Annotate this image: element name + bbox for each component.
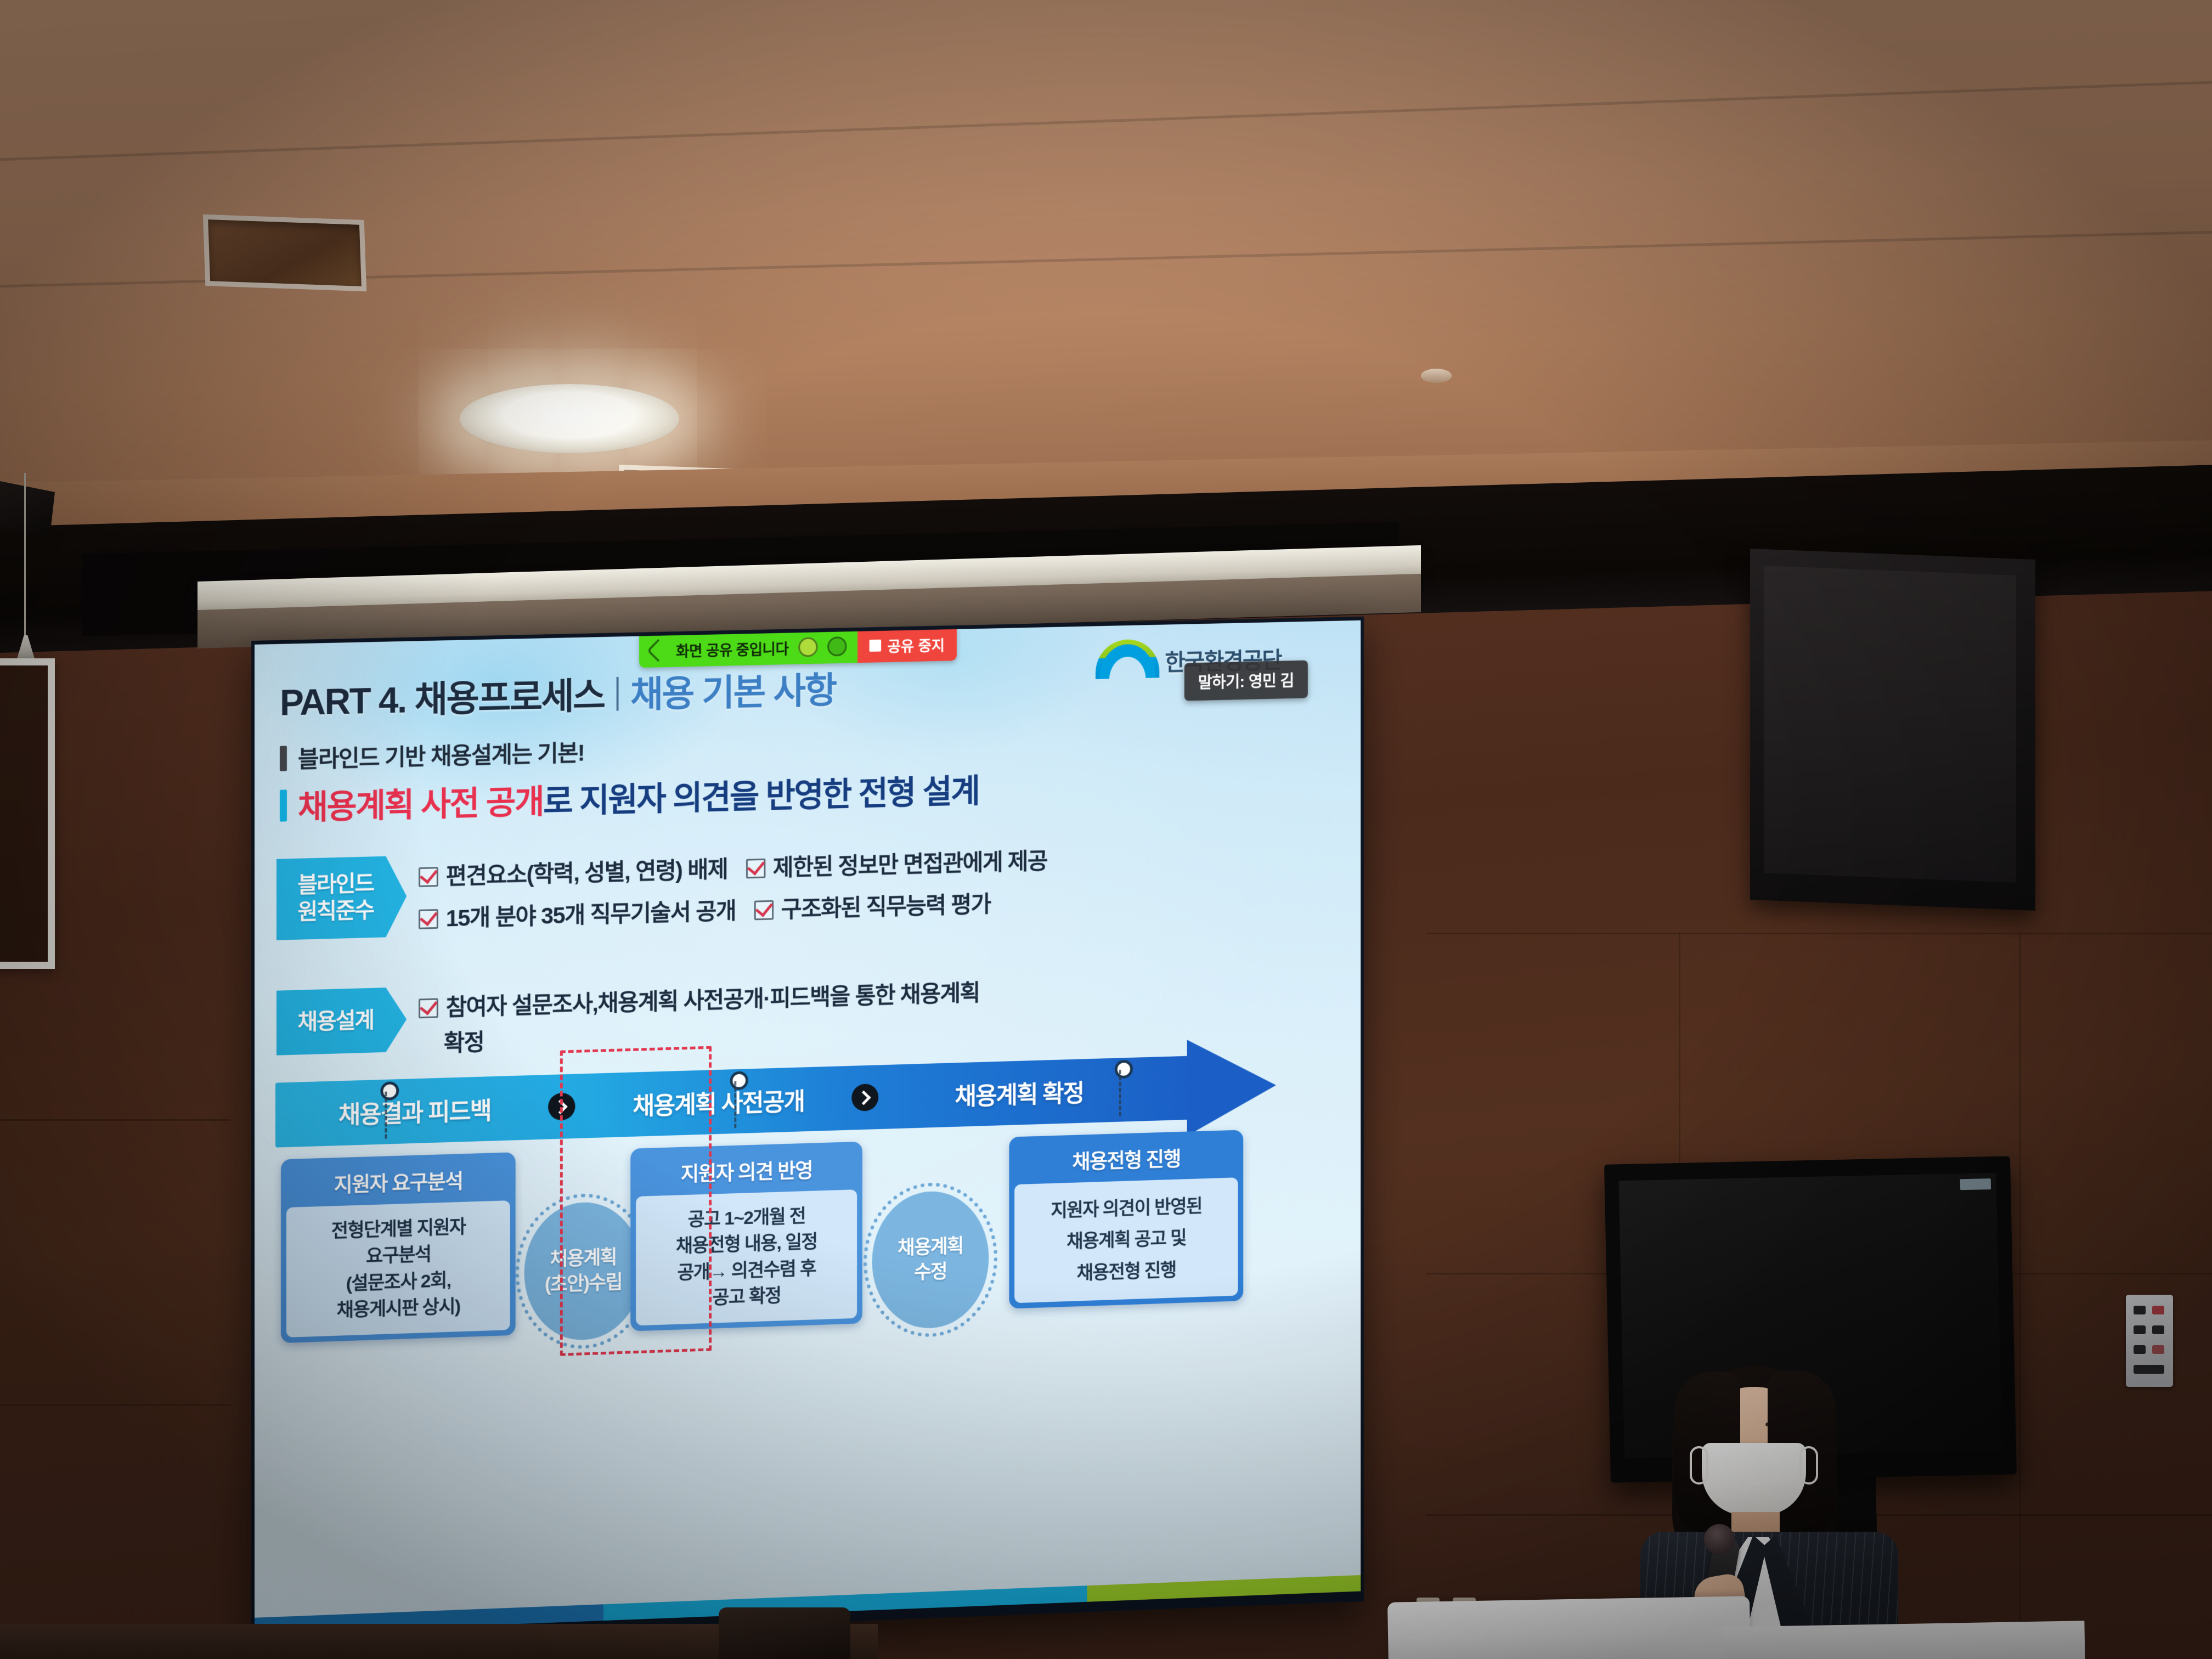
section-tag-line1: 채용설계 (297, 1007, 374, 1036)
process-stage-0: 채용결과 피드백 (286, 1075, 543, 1147)
headline-bar-gray (280, 746, 287, 771)
checkbox-checked-icon (419, 909, 438, 929)
stop-share-label: 공유 중지 (888, 634, 945, 656)
circle-plan-revision: 채용계획 수정 (872, 1189, 989, 1330)
monitor-brand-badge (1960, 1178, 1991, 1190)
card-head: 지원자 의견 반영 (636, 1147, 857, 1197)
wall-panel-seam (1426, 933, 2212, 934)
share-status-area: 화면 공유 중입니다 (639, 629, 857, 668)
checkbox-checked-icon (746, 859, 765, 879)
bullet-text-line2: 확정 (444, 1024, 484, 1058)
share-status-label: 화면 공유 중입니다 (676, 637, 788, 661)
bullet-row: 15개 분야 35개 직무기술서 공개 구조화된 직무능력 평가 (419, 884, 1047, 934)
circle-line1: 채용계획 (898, 1234, 963, 1260)
process-cards: 지원자 요구분석 전형단계별 지원자 요구분석 (설문조사 2회, 채용게시판 … (278, 1127, 1327, 1418)
card-head: 채용전형 진행 (1014, 1136, 1238, 1185)
logo-mark-icon (1096, 639, 1159, 679)
process-stage-2: 채용계획 확정 (894, 1057, 1145, 1128)
slide-headline: 블라인드 기반 채용설계는 기본! 채용계획 사전 공개로 지원자 의견을 반영… (280, 725, 979, 830)
white-podium (1387, 1596, 1751, 1659)
white-podium-secondary (1722, 1621, 2085, 1659)
circle-line2: 수정 (914, 1260, 947, 1284)
checkbox-checked-icon (419, 867, 438, 887)
checkbox-checked-icon (754, 900, 774, 921)
stop-square-icon (869, 640, 881, 652)
ceiling-air-vent (203, 215, 366, 292)
timeline-stem (385, 1092, 388, 1139)
screenshot-root: 화면 공유 중입니다 공유 중지 한국환경공단 말하기: 영민 김 PART 4… (0, 0, 2212, 1659)
circle-draft-plan: 채용계획 (초안)수립 (524, 1200, 642, 1342)
section-tag-design: 채용설계 (276, 987, 407, 1056)
circle-line2: (초안)수립 (545, 1271, 622, 1297)
share-back-arrow-icon[interactable] (647, 639, 670, 662)
card-recruitment-progress: 채용전형 진행 지원자 의견이 반영된 채용계획 공고 및 채용전형 진행 (1009, 1130, 1243, 1308)
smoke-detector-icon (1421, 369, 1452, 383)
section-tag-line1: 블라인드 (297, 870, 374, 899)
wall-control-plate[interactable] (2126, 1295, 2173, 1387)
stop-share-button[interactable]: 공유 중지 (857, 627, 957, 663)
pause-share-icon[interactable] (798, 637, 817, 657)
title-divider (616, 677, 618, 711)
circle-line1: 채용계획 (550, 1246, 617, 1272)
section-tag-blind: 블라인드 원칙준수 (276, 856, 407, 940)
process-arrow-head (1187, 1037, 1276, 1136)
section-tag-line2: 원칙준수 (297, 897, 374, 926)
headline-main: 채용계획 사전 공개로 지원자 의견을 반영한 전형 설계 (298, 765, 979, 829)
headline-rest: 로 지원자 의견을 반영한 전형 설계 (543, 773, 979, 820)
headline-accent: 채용계획 사전 공개 (298, 783, 543, 826)
section-recruitment-design: 채용설계 참여자 설문조사, 채용계획 사전공개·피드백을 통한 채용계획 확정 (276, 971, 980, 1072)
bullet-text-pre: 참여자 설문조사, (446, 985, 598, 1023)
slide-title-part: PART 4. 채용프로세스 (280, 667, 605, 726)
card-body: 지원자 의견이 반영된 채용계획 공고 및 채용전형 진행 (1014, 1177, 1238, 1303)
timeline-stem (734, 1081, 738, 1128)
bullet-text: 15개 분야 35개 직무기술서 공개 (446, 893, 736, 934)
face-mask-white (1702, 1443, 1806, 1515)
card-applicant-feedback: 지원자 의견 반영 공고 1~2개월 전 채용전형 내용, 일정 공개→ 의견수… (630, 1142, 862, 1331)
hanging-cable (24, 473, 26, 637)
slide-title: PART 4. 채용프로세스 채용 기본 사항 (280, 661, 836, 726)
round-ceiling-light (460, 384, 679, 453)
hanging-display-frame (0, 658, 55, 969)
section-body-design: 참여자 설문조사, 채용계획 사전공개·피드백을 통한 채용계획 확정 (419, 971, 980, 1068)
footer-bar-green (1087, 1575, 1361, 1602)
headline-bar-blue (280, 789, 287, 821)
card-applicant-needs: 지원자 요구분석 전형단계별 지원자 요구분석 (설문조사 2회, 채용게시판 … (281, 1152, 516, 1343)
process-stage-1: 채용계획 사전공개 (591, 1066, 845, 1138)
slide-title-sub: 채용 기본 사항 (630, 661, 836, 718)
zoom-share-toolbar[interactable]: 화면 공유 중입니다 공유 중지 (639, 627, 956, 668)
bullet-text-accent: 채용계획 사전공개·피드백 (597, 979, 830, 1018)
headline-sub: 블라인드 기반 채용설계는 기본! (298, 735, 584, 775)
card-body: 공고 1~2개월 전 채용전형 내용, 일정 공개→ 의견수렴 후 공고 확정 (636, 1189, 857, 1325)
card-body: 전형단계별 지원자 요구분석 (설문조사 2회, 채용게시판 상시) (286, 1200, 510, 1338)
presentation-slide: 화면 공유 중입니다 공유 중지 한국환경공단 말하기: 영민 김 PART 4… (255, 620, 1361, 1634)
wall-panel-seam (2019, 933, 2021, 1657)
bullet-text: 제한된 정보만 면접관에게 제공 (773, 843, 1047, 883)
projector-screen: 화면 공유 중입니다 공유 중지 한국환경공단 말하기: 영민 김 PART 4… (251, 617, 1364, 1645)
wall-panel-seam (0, 1404, 230, 1406)
card-head: 지원자 요구분석 (286, 1158, 510, 1207)
active-speaker-badge: 말하기: 영민 김 (1184, 661, 1308, 701)
foreground-object (719, 1607, 850, 1659)
section-body-blind: 편견요소(학력, 성별, 연령) 배제 제한된 정보만 면접관에게 제공 15개… (419, 839, 1047, 943)
timeline-stem (1119, 1070, 1123, 1116)
wall-panel-seam (0, 1119, 230, 1121)
section-blind-principles: 블라인드 원칙준수 편견요소(학력, 성별, 연령) 배제 제한된 정보만 면접… (276, 839, 1047, 947)
annotate-icon[interactable] (827, 636, 847, 656)
checkbox-checked-icon (419, 998, 438, 1018)
bullet-text: 편견요소(학력, 성별, 연령) 배제 (446, 851, 727, 891)
bullet-text: 구조화된 직무능력 평가 (781, 885, 991, 924)
bullet-row: 편견요소(학력, 성별, 연령) 배제 제한된 정보만 면접관에게 제공 (419, 843, 1047, 892)
bullet-text-post: 을 통한 채용계획 (830, 974, 979, 1012)
wall-speaker-right-grille (1764, 566, 2016, 883)
